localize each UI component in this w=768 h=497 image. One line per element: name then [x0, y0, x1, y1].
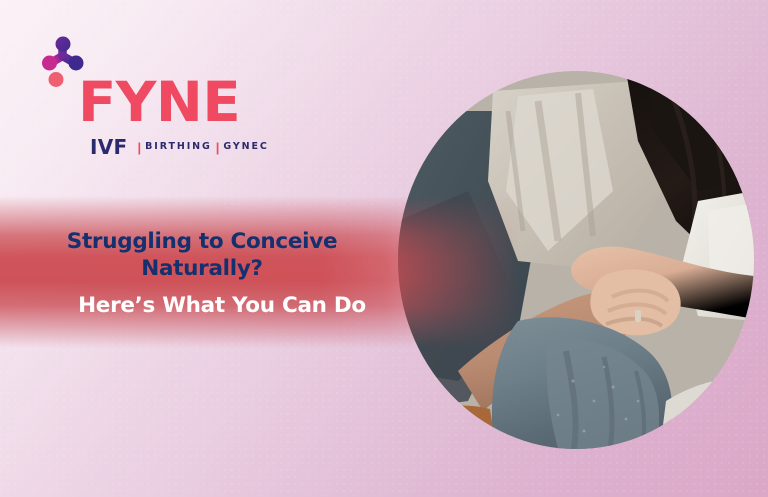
headline: Struggling to Conceive Naturally? Here’s… — [0, 228, 400, 319]
tagline-separator-2: | — [216, 141, 220, 154]
fyne-logo[interactable]: FYNE IVF | BIRTHING | GYNEC — [32, 33, 242, 138]
tagline-ivf: IVF — [90, 137, 127, 157]
brand-name-row: FYNE — [78, 77, 237, 127]
brand-name: FYNE — [78, 77, 240, 127]
logo-tagline: IVF | BIRTHING | GYNEC — [90, 137, 269, 157]
headline-line-1: Struggling to Conceive Naturally? — [0, 228, 400, 282]
headline-line-2: Here’s What You Can Do — [0, 292, 400, 319]
promo-banner: FYNE IVF | BIRTHING | GYNEC — [0, 0, 768, 497]
tagline-separator-1: | — [137, 141, 141, 154]
tagline-birthing: BIRTHING — [145, 142, 212, 152]
couple-holding-hands-photo — [398, 71, 754, 449]
tagline-gynec: GYNEC — [223, 142, 268, 152]
